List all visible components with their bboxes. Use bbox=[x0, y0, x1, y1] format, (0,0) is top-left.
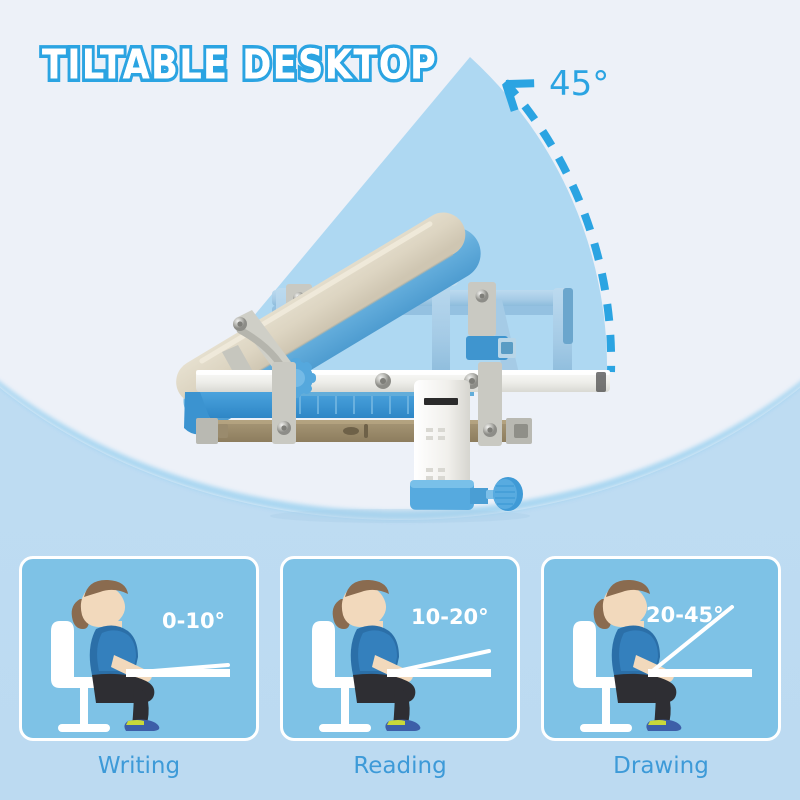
infographic-stage: TILTABLE DESKTOP TILTABLE DESKTOP 45° bbox=[0, 0, 800, 800]
posture-caption-reading: Reading bbox=[280, 753, 520, 779]
page-title: TILTABLE DESKTOP bbox=[42, 42, 437, 89]
posture-caption-drawing: Drawing bbox=[541, 753, 781, 779]
angle-value-label: 45° bbox=[549, 64, 609, 104]
posture-card-writing[interactable]: 0-10° Writing bbox=[19, 556, 259, 800]
posture-card-reading-box: 10-20° bbox=[280, 556, 520, 741]
posture-card-row: 0-10° Writing bbox=[0, 556, 800, 800]
posture-card-reading[interactable]: 10-20° Reading bbox=[280, 556, 520, 800]
seated-person-reading-icon bbox=[283, 559, 520, 741]
posture-angle-reading: 10-20° bbox=[411, 605, 489, 629]
front-crossbar bbox=[196, 370, 610, 392]
seated-person-drawing-icon bbox=[544, 559, 781, 741]
posture-card-writing-box: 0-10° bbox=[19, 556, 259, 741]
lift-column bbox=[410, 380, 488, 510]
left-rail-bracket bbox=[272, 362, 296, 444]
posture-card-drawing-box: 20-45° bbox=[541, 556, 781, 741]
posture-card-drawing[interactable]: 20-45° Drawing bbox=[541, 556, 781, 800]
posture-caption-writing: Writing bbox=[19, 753, 259, 779]
posture-angle-drawing: 20-45° bbox=[646, 603, 724, 627]
right-rail-bracket bbox=[478, 362, 502, 446]
seated-person-writing-icon bbox=[22, 559, 259, 741]
height-adjust-knob bbox=[486, 477, 523, 511]
posture-angle-writing: 0-10° bbox=[162, 609, 225, 633]
